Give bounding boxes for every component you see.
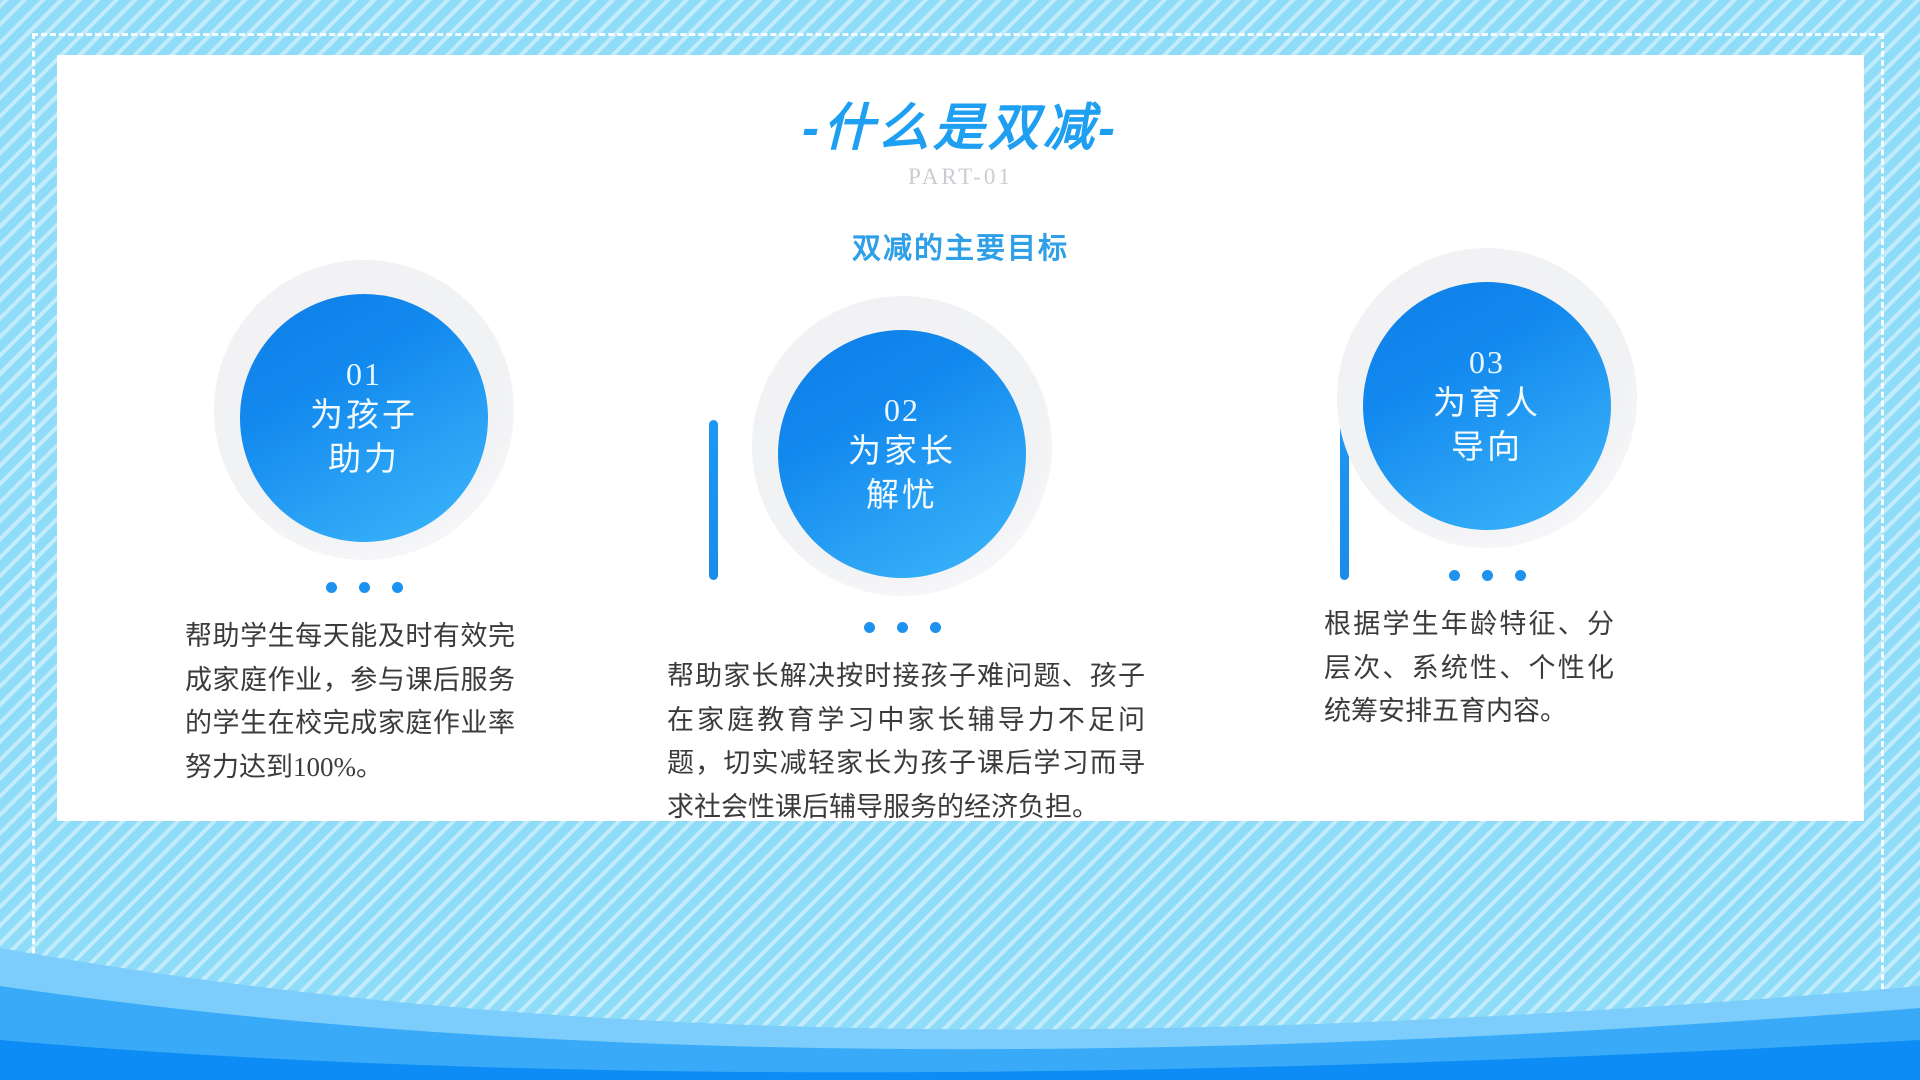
goal-title-line1: 为孩子 bbox=[310, 394, 418, 438]
bottom-wave-decoration bbox=[0, 890, 1920, 1080]
circle-main-02: 02 为家长 解忧 bbox=[778, 330, 1026, 578]
goal-circle-01[interactable]: 01 为孩子 助力 bbox=[214, 260, 514, 560]
goal-column-01: 01 为孩子 助力 帮助学生每天能及时有效完成家庭作业，参与课后服务的学生在校完… bbox=[149, 260, 579, 790]
goal-circle-03[interactable]: 03 为育人 导向 bbox=[1337, 248, 1637, 548]
dot-icon bbox=[930, 622, 941, 633]
dot-icon bbox=[1449, 570, 1460, 581]
dot-icon bbox=[1515, 570, 1526, 581]
slide-content-card: -什么是双减- PART-01 双减的主要目标 01 为孩子 助力 帮助学生每天… bbox=[57, 55, 1864, 821]
circle-main-03: 03 为育人 导向 bbox=[1363, 282, 1611, 530]
dot-separator bbox=[149, 582, 579, 593]
dot-icon bbox=[897, 622, 908, 633]
part-label: PART-01 bbox=[57, 164, 1864, 190]
dot-separator bbox=[1272, 570, 1702, 581]
dot-icon bbox=[392, 582, 403, 593]
goal-description-03: 根据学生年龄特征、分层次、系统性、个性化统筹安排五育内容。 bbox=[1324, 603, 1614, 734]
dot-icon bbox=[359, 582, 370, 593]
circle-main-01: 01 为孩子 助力 bbox=[240, 294, 488, 542]
dot-separator bbox=[687, 622, 1117, 633]
goal-description-02: 帮助家长解决按时接孩子难问题、孩子在家庭教育学习中家长辅导力不足问题，切实减轻家… bbox=[667, 655, 1145, 830]
slide-header: -什么是双减- PART-01 bbox=[57, 100, 1864, 190]
goal-title-line1: 为育人 bbox=[1433, 382, 1541, 426]
goal-title-line2: 导向 bbox=[1451, 426, 1523, 470]
dot-icon bbox=[1482, 570, 1493, 581]
page-title: -什么是双减- bbox=[57, 100, 1864, 156]
goal-circle-02[interactable]: 02 为家长 解忧 bbox=[752, 296, 1052, 596]
goal-column-03: 03 为育人 导向 根据学生年龄特征、分层次、系统性、个性化统筹安排五育内容。 bbox=[1272, 260, 1702, 734]
goal-column-02: 02 为家长 解忧 帮助家长解决按时接孩子难问题、孩子在家庭教育学习中家长辅导力… bbox=[687, 260, 1117, 830]
dot-icon bbox=[326, 582, 337, 593]
goal-number: 02 bbox=[884, 390, 920, 430]
goal-number: 03 bbox=[1469, 342, 1505, 382]
goal-title-line2: 助力 bbox=[328, 438, 400, 482]
goal-number: 01 bbox=[346, 354, 382, 394]
goal-title-line2: 解忧 bbox=[866, 474, 938, 518]
goal-title-line1: 为家长 bbox=[848, 430, 956, 474]
goal-description-01: 帮助学生每天能及时有效完成家庭作业，参与课后服务的学生在校完成家庭作业率努力达到… bbox=[185, 615, 515, 790]
goal-columns: 01 为孩子 助力 帮助学生每天能及时有效完成家庭作业，参与课后服务的学生在校完… bbox=[57, 260, 1864, 820]
dot-icon bbox=[864, 622, 875, 633]
